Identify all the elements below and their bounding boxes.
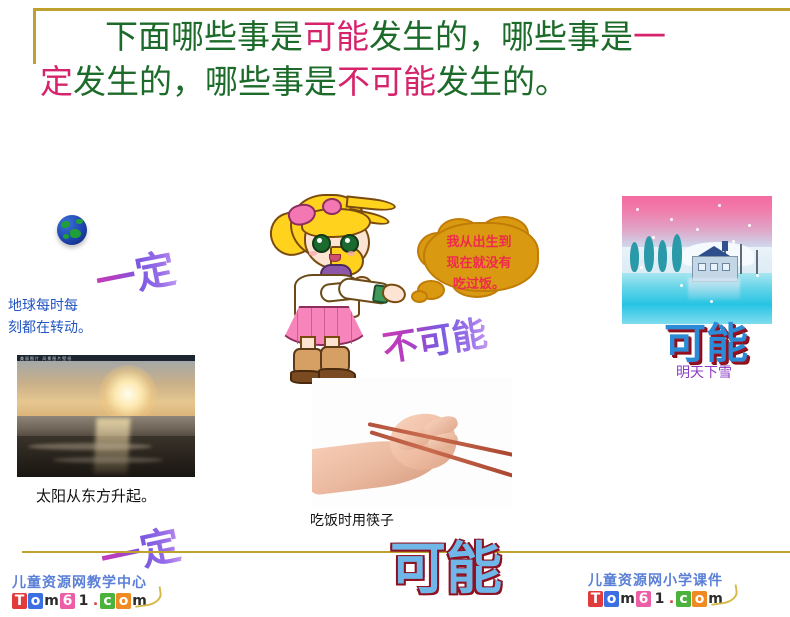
domain-char: 1 [76,593,91,609]
answer-label-earth: 一定 [90,236,180,308]
snowflake [670,218,673,221]
domain-char: T [588,591,603,607]
watermark-left-domain: T o m 6 1 . c o m [12,593,148,609]
girl-mouth [329,254,341,262]
caption-earth: 地球每时每 刻都在转动。 [8,295,92,339]
domain-char: o [28,593,43,609]
girl-cheek-left [309,251,317,256]
slide-canvas: 下面哪些事是可能发生的，哪些事是一 定发生的，哪些事是不可能发生的。 一定 地球… [0,0,790,617]
winter-window-3 [722,263,730,271]
winter-bare-tree-3 [756,250,758,274]
title-seg-6: 发生的，哪些事是 [73,62,337,101]
domain-char: T [12,593,27,609]
photo-watermark-text: 美丽图片 风景图片壁纸 [20,356,72,362]
title-line-2: 定发生的，哪些事是不可能发生的。 [0,59,790,104]
winter-tree-4 [672,234,682,272]
caption-chopsticks: 吃饭时用筷子 [310,510,394,530]
winter-tree-2 [644,236,654,272]
domain-char: . [668,591,675,607]
girl-hair-bow-right [322,198,342,215]
winter-bare-tree-2 [740,244,742,274]
caption-sunrise: 太阳从东方升起。 [36,485,156,506]
sun-disc [99,365,157,423]
winter-tree-1 [630,242,639,272]
snowflake [696,228,699,231]
page-title: 下面哪些事是可能发生的，哪些事是一 定发生的，哪些事是不可能发生的。 [0,14,790,104]
title-seg-1: 下面哪些事是 [105,17,303,56]
watermark-swoosh-icon [133,586,163,608]
answer-label-chopsticks: 可能 [390,524,502,605]
watermark-right-text: 儿童资源网小学课件 [588,570,724,590]
caption-snow: 明天下雪 [676,362,732,382]
winter-window-2 [710,263,718,271]
title-line-1: 下面哪些事是可能发生的，哪些事是一 [0,14,790,59]
sunrise-wave-1 [28,443,153,450]
title-seg-5-highlight: 定 [40,62,73,101]
domain-char: m [44,593,59,609]
globe-icon [57,215,87,245]
thought-bubble-text: 我从出生到 现在就没有 吃过饭。 [425,232,533,295]
watermark-left-text: 儿童资源网教学中心 [12,572,148,592]
thought-bubble: 我从出生到 现在就没有 吃过饭。 [417,218,539,300]
photo-watermark-bar: 美丽图片 风景图片壁纸 [17,355,195,361]
snowflake [732,240,735,243]
domain-char: 6 [60,593,75,609]
domain-char: c [100,593,115,609]
winter-house-reflection [688,278,740,300]
title-seg-3: 发生的，哪些事是 [369,17,633,56]
title-seg-8: 发生的。 [436,62,568,101]
domain-char: o [116,593,131,609]
snowflake [748,224,751,227]
domain-char: o [604,591,619,607]
winter-chimney [722,241,728,251]
winter-photo [622,196,772,324]
snowflake [652,236,655,239]
snowflake [680,284,683,287]
top-border-line [33,8,790,11]
domain-char: m [620,591,635,607]
chopsticks-photo [312,378,512,508]
snowflake [718,204,721,207]
watermark-left: 儿童资源网教学中心 T o m 6 1 . c o m [12,572,148,609]
girl-illustration [268,188,398,358]
girl-cheek-right [347,251,355,256]
title-seg-7-highlight: 不可能 [337,62,436,101]
snowflake [640,266,643,269]
title-seg-2-highlight: 可能 [303,17,369,56]
sunrise-photo: 美丽图片 风景图片壁纸 [17,355,195,477]
watermark-swoosh-icon [709,584,739,606]
domain-char: 1 [652,591,667,607]
snowflake [636,208,639,211]
title-seg-4-highlight: 一 [633,17,666,56]
girl-eye-left [312,234,331,253]
watermark-right: 儿童资源网小学课件 T o m 6 1 . c o m [588,570,724,607]
domain-char: 6 [636,591,651,607]
domain-char: . [92,593,99,609]
snowflake [756,274,759,277]
watermark-right-domain: T o m 6 1 . c o m [588,591,724,607]
winter-window-1 [698,263,706,271]
winter-tree-3 [658,240,667,272]
domain-char: o [692,591,707,607]
domain-char: c [676,591,691,607]
snowflake [710,300,713,303]
